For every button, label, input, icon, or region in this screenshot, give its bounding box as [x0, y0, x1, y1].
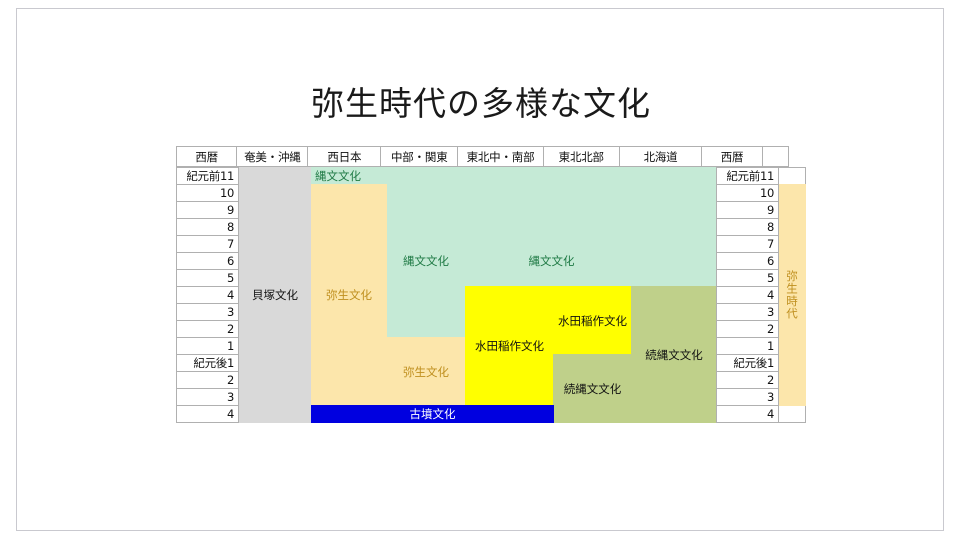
block-jomon-bunka-row1: 縄文文化 [311, 167, 717, 185]
header-cell-amami-okinawa: 奄美・沖縄 [236, 146, 308, 167]
year-label-right: 4 [716, 405, 779, 423]
slide-canvas: 弥生時代の多様な文化 西暦 奄美・沖縄 西日本 中部・関東 東北中・南部 東北北… [16, 8, 944, 531]
header-cell-tohoku-chunan: 東北中・南部 [457, 146, 544, 167]
year-label-right: 3 [716, 388, 779, 406]
year-label-left: 4 [176, 405, 239, 423]
header-cell-nishi-nihon: 西日本 [307, 146, 381, 167]
table-body: 紀元前11紀元前111010998877665544332211紀元後1紀元後1… [176, 167, 789, 437]
block-suiden-inasaku-chunan: 水田稲作文化 [465, 286, 554, 406]
year-label-right: 7 [716, 235, 779, 253]
block-jomon-bunka-chubu: 縄文文化 [386, 184, 466, 338]
block-suiden-inasaku-hokubu: 水田稲作文化 [553, 286, 632, 355]
year-label-left: 2 [176, 320, 239, 338]
culture-timeline-table: 西暦 奄美・沖縄 西日本 中部・関東 東北中・南部 東北北部 北海道 西暦 紀元… [176, 146, 789, 450]
year-label-left: 6 [176, 252, 239, 270]
block-zokujomon-bunka-hokubu: 続縄文文化 [553, 354, 632, 423]
block-yayoi-bunka-west: 弥生文化 [311, 184, 387, 406]
era-column-cell [778, 405, 806, 423]
header-cell-chubu-kanto: 中部・関東 [380, 146, 458, 167]
block-kaizuka-bunka: 貝塚文化 [238, 167, 312, 423]
year-label-right: 5 [716, 269, 779, 287]
block-yayoi-bunka-chubu: 弥生文化 [386, 337, 466, 406]
year-label-left: 8 [176, 218, 239, 236]
year-label-right: 9 [716, 201, 779, 219]
year-label-left: 1 [176, 337, 239, 355]
year-label-right: 1 [716, 337, 779, 355]
year-label-right: 2 [716, 320, 779, 338]
block-zokujomon-bunka-hokkaido: 続縄文文化 [631, 286, 717, 423]
year-label-left: 7 [176, 235, 239, 253]
year-label-right: 4 [716, 286, 779, 304]
year-label-right: 3 [716, 303, 779, 321]
era-column-cell [778, 167, 806, 185]
year-label-right: 紀元後1 [716, 354, 779, 372]
header-cell-seireki-right: 西暦 [701, 146, 762, 167]
year-label-left: 紀元前11 [176, 167, 239, 185]
year-label-left: 5 [176, 269, 239, 287]
header-cell-seireki-left: 西暦 [176, 146, 237, 167]
header-cell-tohoku-hokubu: 東北北部 [543, 146, 620, 167]
year-label-right: 6 [716, 252, 779, 270]
year-label-left: 2 [176, 371, 239, 389]
block-kofun-bunka: 古墳文化 [311, 405, 554, 423]
year-label-right: 8 [716, 218, 779, 236]
year-label-left: 紀元後1 [176, 354, 239, 372]
year-label-left: 9 [176, 201, 239, 219]
year-label-right: 紀元前11 [716, 167, 779, 185]
year-label-right: 2 [716, 371, 779, 389]
year-label-left: 3 [176, 388, 239, 406]
header-cell-hokkaido: 北海道 [619, 146, 703, 167]
table-header-row: 西暦 奄美・沖縄 西日本 中部・関東 東北中・南部 東北北部 北海道 西暦 [176, 146, 789, 167]
year-label-right: 10 [716, 184, 779, 202]
header-cell-era-spacer [762, 146, 789, 167]
year-label-left: 10 [176, 184, 239, 202]
page-title: 弥生時代の多様な文化 [17, 77, 945, 125]
block-yayoi-jidai: 弥生時代 [778, 184, 806, 406]
year-label-left: 4 [176, 286, 239, 304]
year-label-left: 3 [176, 303, 239, 321]
